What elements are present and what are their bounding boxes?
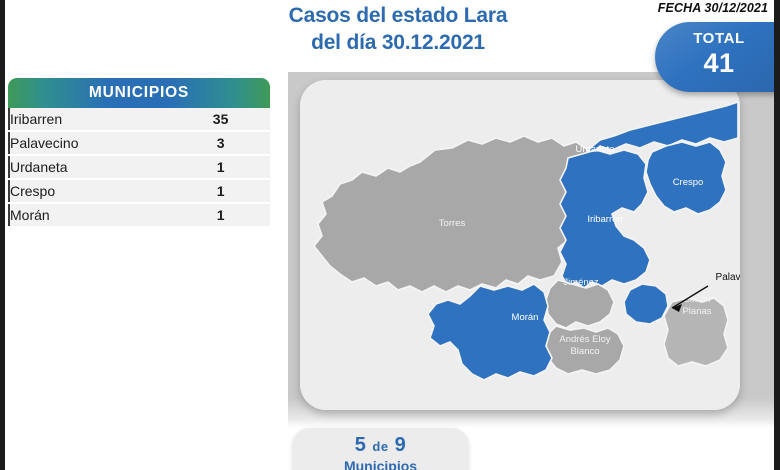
badge-fraction: 5 de 9 — [293, 434, 468, 457]
table-row: Morán 1 — [9, 203, 270, 227]
badge-unit: Municipios — [293, 458, 468, 470]
municipio-name: Palavecino — [9, 131, 171, 155]
title-line-2: del día 30.12.2021 — [208, 29, 588, 56]
municipio-name: Urdaneta — [9, 155, 171, 179]
lara-state-map: .case { fill: #2f72bf; stroke: #f4f4f4; … — [300, 80, 740, 410]
map-region-palavecino — [624, 284, 668, 324]
table-row: Iribarren 35 — [9, 108, 270, 131]
municipios-table: MUNICIPIOS Iribarren 35 Palavecino 3 Urd… — [8, 78, 270, 228]
municipio-name: Crespo — [9, 179, 171, 203]
municipios-table-body: Iribarren 35 Palavecino 3 Urdaneta 1 Cre… — [9, 108, 270, 227]
municipio-value: 35 — [171, 108, 270, 131]
municipio-value: 1 — [171, 203, 270, 227]
date-label: FECHA 30/12/2021 — [658, 1, 768, 15]
municipios-affected-badge: 5 de 9 Municipios — [293, 428, 468, 470]
map-region-andres-eloy-blanco — [546, 326, 624, 374]
total-badge-value: 41 — [655, 48, 780, 79]
page-title: Casos del estado Lara del día 30.12.2021 — [208, 2, 588, 56]
total-badge-label: TOTAL — [655, 30, 780, 47]
municipio-value: 3 — [171, 131, 270, 155]
frame-edge-left — [0, 0, 5, 470]
table-row: Urdaneta 1 — [9, 155, 270, 179]
municipio-name: Morán — [9, 203, 171, 227]
municipios-table-header: MUNICIPIOS — [8, 78, 270, 108]
municipio-value: 1 — [171, 155, 270, 179]
title-line-1: Casos del estado Lara — [289, 4, 508, 27]
badge-connector: de — [372, 439, 388, 454]
badge-total: 9 — [395, 434, 407, 456]
infographic-canvas: Casos del estado Lara del día 30.12.2021… — [0, 0, 780, 470]
frame-edge-right — [774, 0, 780, 470]
table-row: Palavecino 3 — [9, 131, 270, 155]
municipio-name: Iribarren — [9, 108, 171, 131]
total-badge: TOTAL 41 — [655, 22, 780, 92]
municipio-value: 1 — [171, 179, 270, 203]
table-row: Crespo 1 — [9, 179, 270, 203]
badge-count: 5 — [355, 434, 367, 456]
